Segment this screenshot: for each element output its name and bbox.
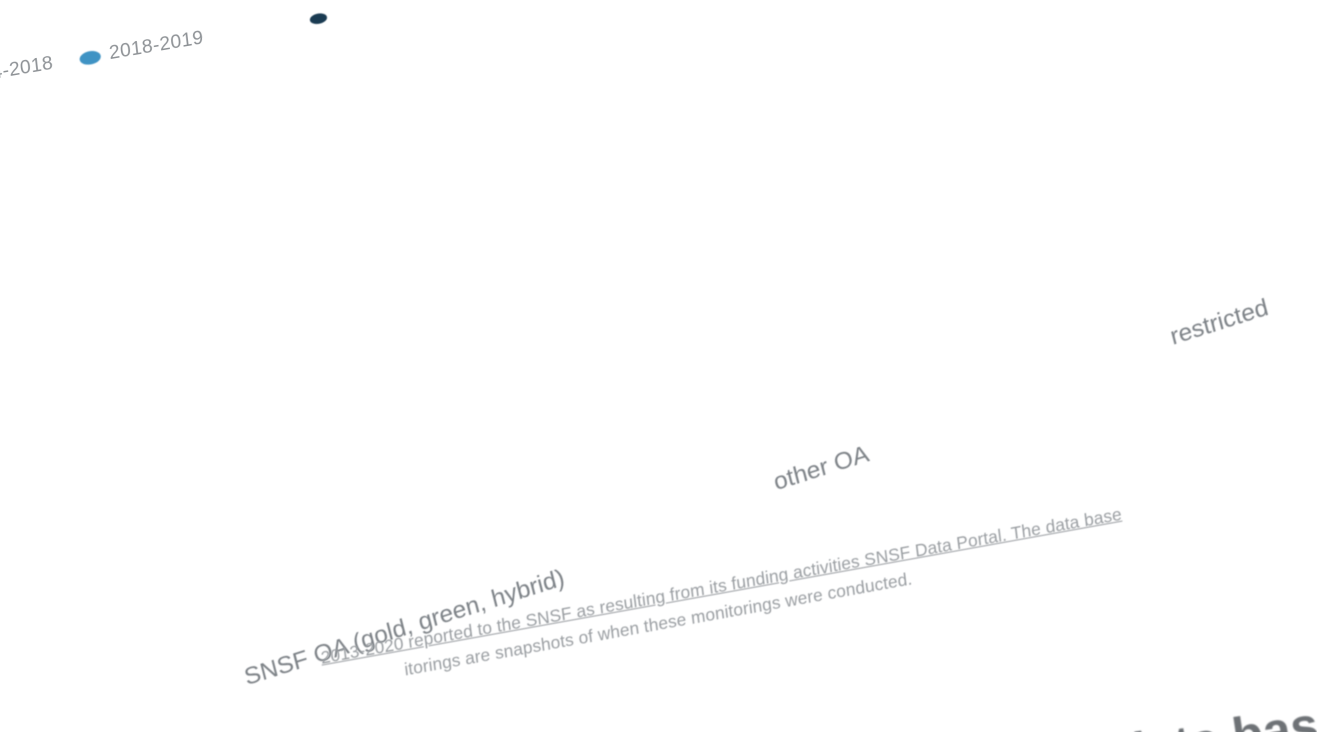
chart-plane: 2014-2018 2018-2019 39% — [0, 0, 1317, 732]
bar-value-label: 55% — [186, 634, 243, 668]
bar[interactable]: 23% — [999, 485, 1053, 494]
bar-value-label: 39% — [67, 654, 124, 688]
category-label-other-oa: other OA — [771, 440, 872, 497]
legend-item-1[interactable]: 2018-2019 — [78, 27, 205, 70]
bar-wrap: 19% — [778, 522, 832, 531]
bar[interactable]: 48% — [126, 633, 180, 642]
bar[interactable]: 55% — [185, 623, 239, 632]
bar[interactable]: 19% — [778, 522, 832, 531]
bar-wrap: 33% — [940, 495, 994, 504]
slide-photo: 2014-2018 2018-2019 39% — [0, 0, 1317, 732]
bar[interactable]: 44% — [881, 505, 935, 514]
bar-wrap: 48% — [126, 633, 180, 642]
bar-wrap: 18% — [1059, 475, 1113, 484]
bar-wrap: 55% — [185, 623, 239, 632]
legend-dot-icon — [309, 12, 327, 25]
bar[interactable]: 17% — [600, 553, 654, 562]
bar-wrap: 39% — [66, 643, 120, 652]
bar[interactable]: 33% — [940, 495, 994, 504]
bar-wrap: 19% — [660, 543, 714, 552]
bar-wrap: 17% — [600, 553, 654, 562]
section-heading-fragment: data base — [1113, 691, 1317, 732]
bar-wrap: 44% — [881, 505, 935, 514]
bar[interactable]: 22% — [719, 532, 773, 541]
bar-group-other-oa: 17% 19% 22% 19% — [547, 45, 833, 561]
bar-group-snsf-oa: 39% 48% 55% 63% — [13, 136, 299, 652]
bar-wrap: 63% — [244, 613, 298, 622]
bar[interactable]: 18% — [1059, 475, 1113, 484]
bar[interactable]: 39% — [66, 643, 120, 652]
chart-legend: 2014-2018 2018-2019 — [0, 5, 337, 96]
bar-value-label: 48% — [127, 644, 184, 678]
legend-label: 2014-2018 — [0, 52, 54, 90]
legend-label: 2018-2019 — [108, 27, 205, 65]
legend-dot-icon — [78, 49, 101, 66]
bar-group-restricted: 44% 33% 23% 18% — [827, 0, 1113, 514]
bar-wrap: 23% — [999, 485, 1053, 494]
bar[interactable]: 63% — [244, 613, 298, 622]
bar[interactable]: 19% — [660, 543, 714, 552]
legend-item-2[interactable] — [309, 11, 336, 26]
legend-item-0[interactable]: 2014-2018 — [0, 52, 54, 95]
bar-wrap: 22% — [719, 532, 773, 541]
bar-chart: 39% 48% 55% 63% — [1, 0, 1317, 654]
category-label-restricted: restricted — [1167, 294, 1271, 352]
